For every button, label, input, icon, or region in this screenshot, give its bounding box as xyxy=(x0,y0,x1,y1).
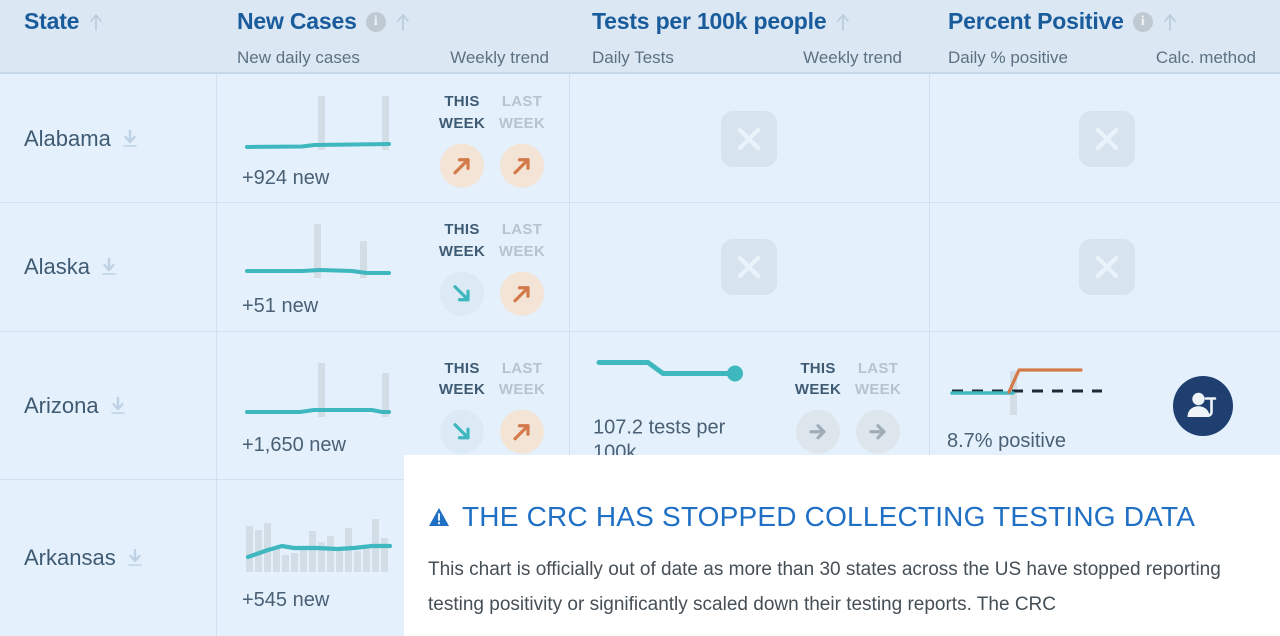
column-subheaders-tests: Daily Tests Weekly trend xyxy=(592,48,902,68)
weekly-trend-group: THIS WEEK LAST WEEK xyxy=(438,219,546,316)
trend-label-this-line1: THIS xyxy=(438,357,486,379)
state-label: Alaska xyxy=(24,254,90,280)
subheader-right: Weekly trend xyxy=(803,48,902,68)
cell-tests-per-100k xyxy=(569,203,929,331)
new-cases-value: +1,650 new xyxy=(242,434,392,457)
download-icon[interactable] xyxy=(109,396,127,416)
warning-triangle-icon xyxy=(428,506,450,528)
column-title-text: State xyxy=(24,8,79,35)
table-header: State New Cases i New daily cases Weekly… xyxy=(0,0,1280,74)
subheader-left: Daily Tests xyxy=(592,48,674,68)
trend-this-week: THIS WEEK xyxy=(438,357,486,454)
cell-state[interactable]: Alabama xyxy=(0,76,216,202)
banner-heading-row: THE CRC HAS STOPPED COLLECTING TESTING D… xyxy=(428,501,1256,533)
cell-percent-positive xyxy=(929,76,1280,202)
weekly-trend-group: THIS WEEK LAST WEEK xyxy=(438,91,546,188)
download-icon[interactable] xyxy=(100,257,118,277)
trend-label-last-line2: WEEK xyxy=(498,113,546,135)
column-header-percent-positive[interactable]: Percent Positive i Daily % positive Calc… xyxy=(948,0,1256,72)
info-icon[interactable]: i xyxy=(366,12,386,32)
subheader-right: Weekly trend xyxy=(450,48,549,68)
right-arrow-icon xyxy=(796,410,840,454)
new-cases-value: +51 new xyxy=(242,295,392,318)
column-header-tests-title: Tests per 100k people xyxy=(592,0,902,35)
cell-percent-positive xyxy=(929,203,1280,331)
state-metrics-table: State New Cases i New daily cases Weekly… xyxy=(0,0,1280,636)
trend-label-last-line2: WEEK xyxy=(498,379,546,401)
tests-sparkline-group: 107.2 tests per 100k xyxy=(593,346,745,465)
trend-label-this-line2: WEEK xyxy=(438,241,486,263)
sparkline-percent-positive xyxy=(947,359,1105,421)
weekly-trend-group: THIS WEEK LAST WEEK xyxy=(794,357,902,454)
state-name-cell: Arkansas xyxy=(24,545,144,571)
state-name-cell: Alabama xyxy=(24,126,139,152)
column-header-percent-title: Percent Positive i xyxy=(948,0,1256,35)
subheader-left: New daily cases xyxy=(237,48,360,68)
right-arrow-icon xyxy=(856,410,900,454)
cell-state[interactable]: Arizona xyxy=(0,332,216,479)
sparkline-tests-per-100k xyxy=(593,346,745,406)
trend-this-week: THIS WEEK xyxy=(794,357,842,454)
sparkline-new-cases xyxy=(242,510,394,580)
info-icon[interactable]: i xyxy=(1133,12,1153,32)
arrow-up-icon[interactable] xyxy=(395,12,411,32)
up-right-arrow-icon xyxy=(500,271,544,315)
state-label: Alabama xyxy=(24,126,111,152)
column-title-text: Tests per 100k people xyxy=(592,8,826,35)
down-right-arrow-icon xyxy=(440,271,484,315)
x-placeholder-icon xyxy=(721,239,777,295)
column-title-text: New Cases xyxy=(237,8,357,35)
table-row[interactable]: Alaska +51 new THIS WEEK xyxy=(0,203,1280,332)
sparkline-new-cases xyxy=(242,88,392,158)
trend-label-this-line2: WEEK xyxy=(794,379,842,401)
new-cases-value: +545 new xyxy=(242,589,394,612)
new-cases-sparkline-group: +1,650 new xyxy=(242,355,392,457)
column-subheaders-new-cases: New daily cases Weekly trend xyxy=(237,48,549,68)
cell-new-cases[interactable]: +924 new THIS WEEK LAST WEEK xyxy=(216,76,569,202)
trend-last-week: LAST WEEK xyxy=(498,91,546,188)
trend-last-week: LAST WEEK xyxy=(498,219,546,316)
subheader-left: Daily % positive xyxy=(948,48,1068,68)
trend-label-this-line2: WEEK xyxy=(438,113,486,135)
column-header-new-cases-title: New Cases i xyxy=(237,0,549,35)
table-row[interactable]: Alabama +924 new THIS WEEK xyxy=(0,76,1280,203)
cell-state[interactable]: Alaska xyxy=(0,203,216,331)
column-header-state[interactable]: State xyxy=(24,0,204,72)
new-cases-value: +924 new xyxy=(242,167,392,190)
new-cases-sparkline-group: +545 new xyxy=(242,510,394,612)
x-placeholder-icon xyxy=(1079,239,1135,295)
trend-label-this-line2: WEEK xyxy=(438,379,486,401)
subheader-right: Calc. method xyxy=(1156,48,1256,68)
column-header-state-title: State xyxy=(24,0,204,35)
state-label: Arkansas xyxy=(24,545,116,571)
trend-label-last-line2: WEEK xyxy=(498,241,546,263)
state-label: Arizona xyxy=(24,393,99,419)
column-header-tests-per-100k[interactable]: Tests per 100k people Daily Tests Weekly… xyxy=(592,0,902,72)
trend-this-week: THIS WEEK xyxy=(438,219,486,316)
banner-title: THE CRC HAS STOPPED COLLECTING TESTING D… xyxy=(462,501,1195,533)
crc-testing-data-banner: THE CRC HAS STOPPED COLLECTING TESTING D… xyxy=(404,455,1280,636)
download-icon[interactable] xyxy=(121,129,139,149)
person-badge-icon[interactable] xyxy=(1173,376,1233,436)
download-icon[interactable] xyxy=(126,548,144,568)
new-cases-sparkline-group: +924 new xyxy=(242,88,392,190)
arrow-up-icon[interactable] xyxy=(1162,12,1178,32)
trend-label-last-line1: LAST xyxy=(498,91,546,113)
up-right-arrow-icon xyxy=(500,410,544,454)
up-right-arrow-icon xyxy=(500,143,544,187)
banner-body-text: This chart is officially out of date as … xyxy=(428,553,1256,622)
arrow-up-icon[interactable] xyxy=(88,12,104,32)
percent-positive-value: 8.7% positive xyxy=(947,430,1105,453)
trend-last-week: LAST WEEK xyxy=(854,357,902,454)
column-title-text: Percent Positive xyxy=(948,8,1124,35)
trend-label-this-line1: THIS xyxy=(438,219,486,241)
x-placeholder-icon xyxy=(721,111,777,167)
x-placeholder-icon xyxy=(1079,111,1135,167)
trend-label-last-line1: LAST xyxy=(498,357,546,379)
up-right-arrow-icon xyxy=(440,143,484,187)
arrow-up-icon[interactable] xyxy=(835,12,851,32)
column-header-new-cases[interactable]: New Cases i New daily cases Weekly trend xyxy=(237,0,549,72)
trend-label-last-line1: LAST xyxy=(498,219,546,241)
trend-this-week: THIS WEEK xyxy=(438,91,486,188)
sparkline-new-cases xyxy=(242,216,392,286)
cell-new-cases[interactable]: +51 new THIS WEEK LAST WEEK xyxy=(216,203,569,331)
new-cases-sparkline-group: +51 new xyxy=(242,216,392,318)
percent-positive-sparkline-group: 8.7% positive xyxy=(947,359,1105,453)
column-subheaders-percent: Daily % positive Calc. method xyxy=(948,48,1256,68)
sparkline-new-cases xyxy=(242,355,392,425)
trend-last-week: LAST WEEK xyxy=(498,357,546,454)
state-name-cell: Alaska xyxy=(24,254,118,280)
trend-label-this-line1: THIS xyxy=(794,357,842,379)
cell-tests-per-100k xyxy=(569,76,929,202)
state-name-cell: Arizona xyxy=(24,393,127,419)
trend-label-this-line1: THIS xyxy=(438,91,486,113)
down-right-arrow-icon xyxy=(440,410,484,454)
weekly-trend-group: THIS WEEK LAST WEEK xyxy=(438,357,546,454)
trend-label-last-line2: WEEK xyxy=(854,379,902,401)
cell-state[interactable]: Arkansas xyxy=(0,480,216,636)
trend-label-last-line1: LAST xyxy=(854,357,902,379)
